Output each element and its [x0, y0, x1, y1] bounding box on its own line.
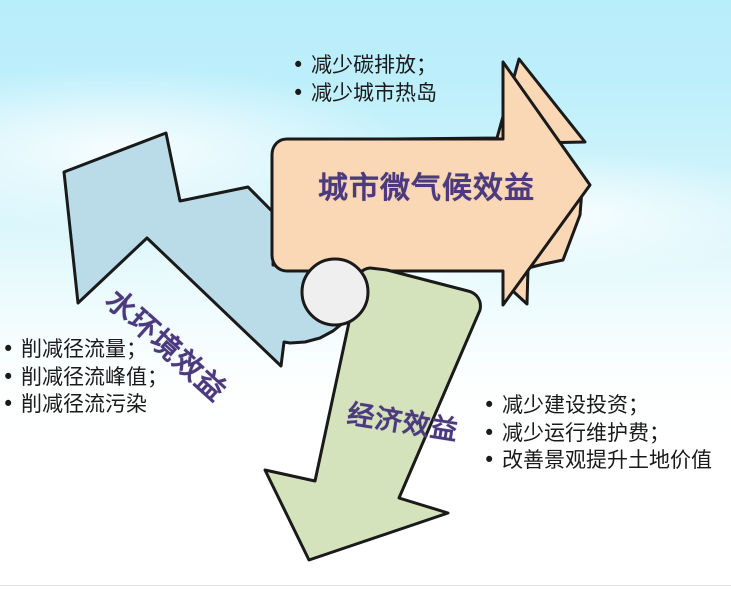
- bottom-divider: [0, 585, 731, 586]
- bullets-economic: • 减少建设投资； • 减少运行维护费； • 改善景观提升土地价值: [483, 392, 712, 475]
- bullets-climate: • 减少碳排放； • 减少城市热岛: [292, 52, 437, 107]
- diagram-canvas: • 减少碳排放； • 减少城市热岛 • 削减径流量； • 削减径流峰值； • 削…: [0, 0, 731, 589]
- bullet-economic-2: • 减少运行维护费；: [483, 420, 712, 448]
- bullet-water-3: • 削减径流污染: [2, 391, 168, 419]
- arrow-label-climate: 城市微气候效益: [318, 163, 535, 207]
- bullet-climate-1: • 减少碳排放；: [292, 52, 437, 80]
- bullet-water-2: • 削减径流峰值；: [2, 364, 168, 392]
- bullet-climate-2: • 减少城市热岛: [292, 80, 437, 108]
- bullet-economic-1: • 减少建设投资；: [483, 392, 712, 420]
- center-circle[interactable]: [302, 259, 368, 325]
- bullet-economic-3: • 改善景观提升土地价值: [483, 447, 712, 475]
